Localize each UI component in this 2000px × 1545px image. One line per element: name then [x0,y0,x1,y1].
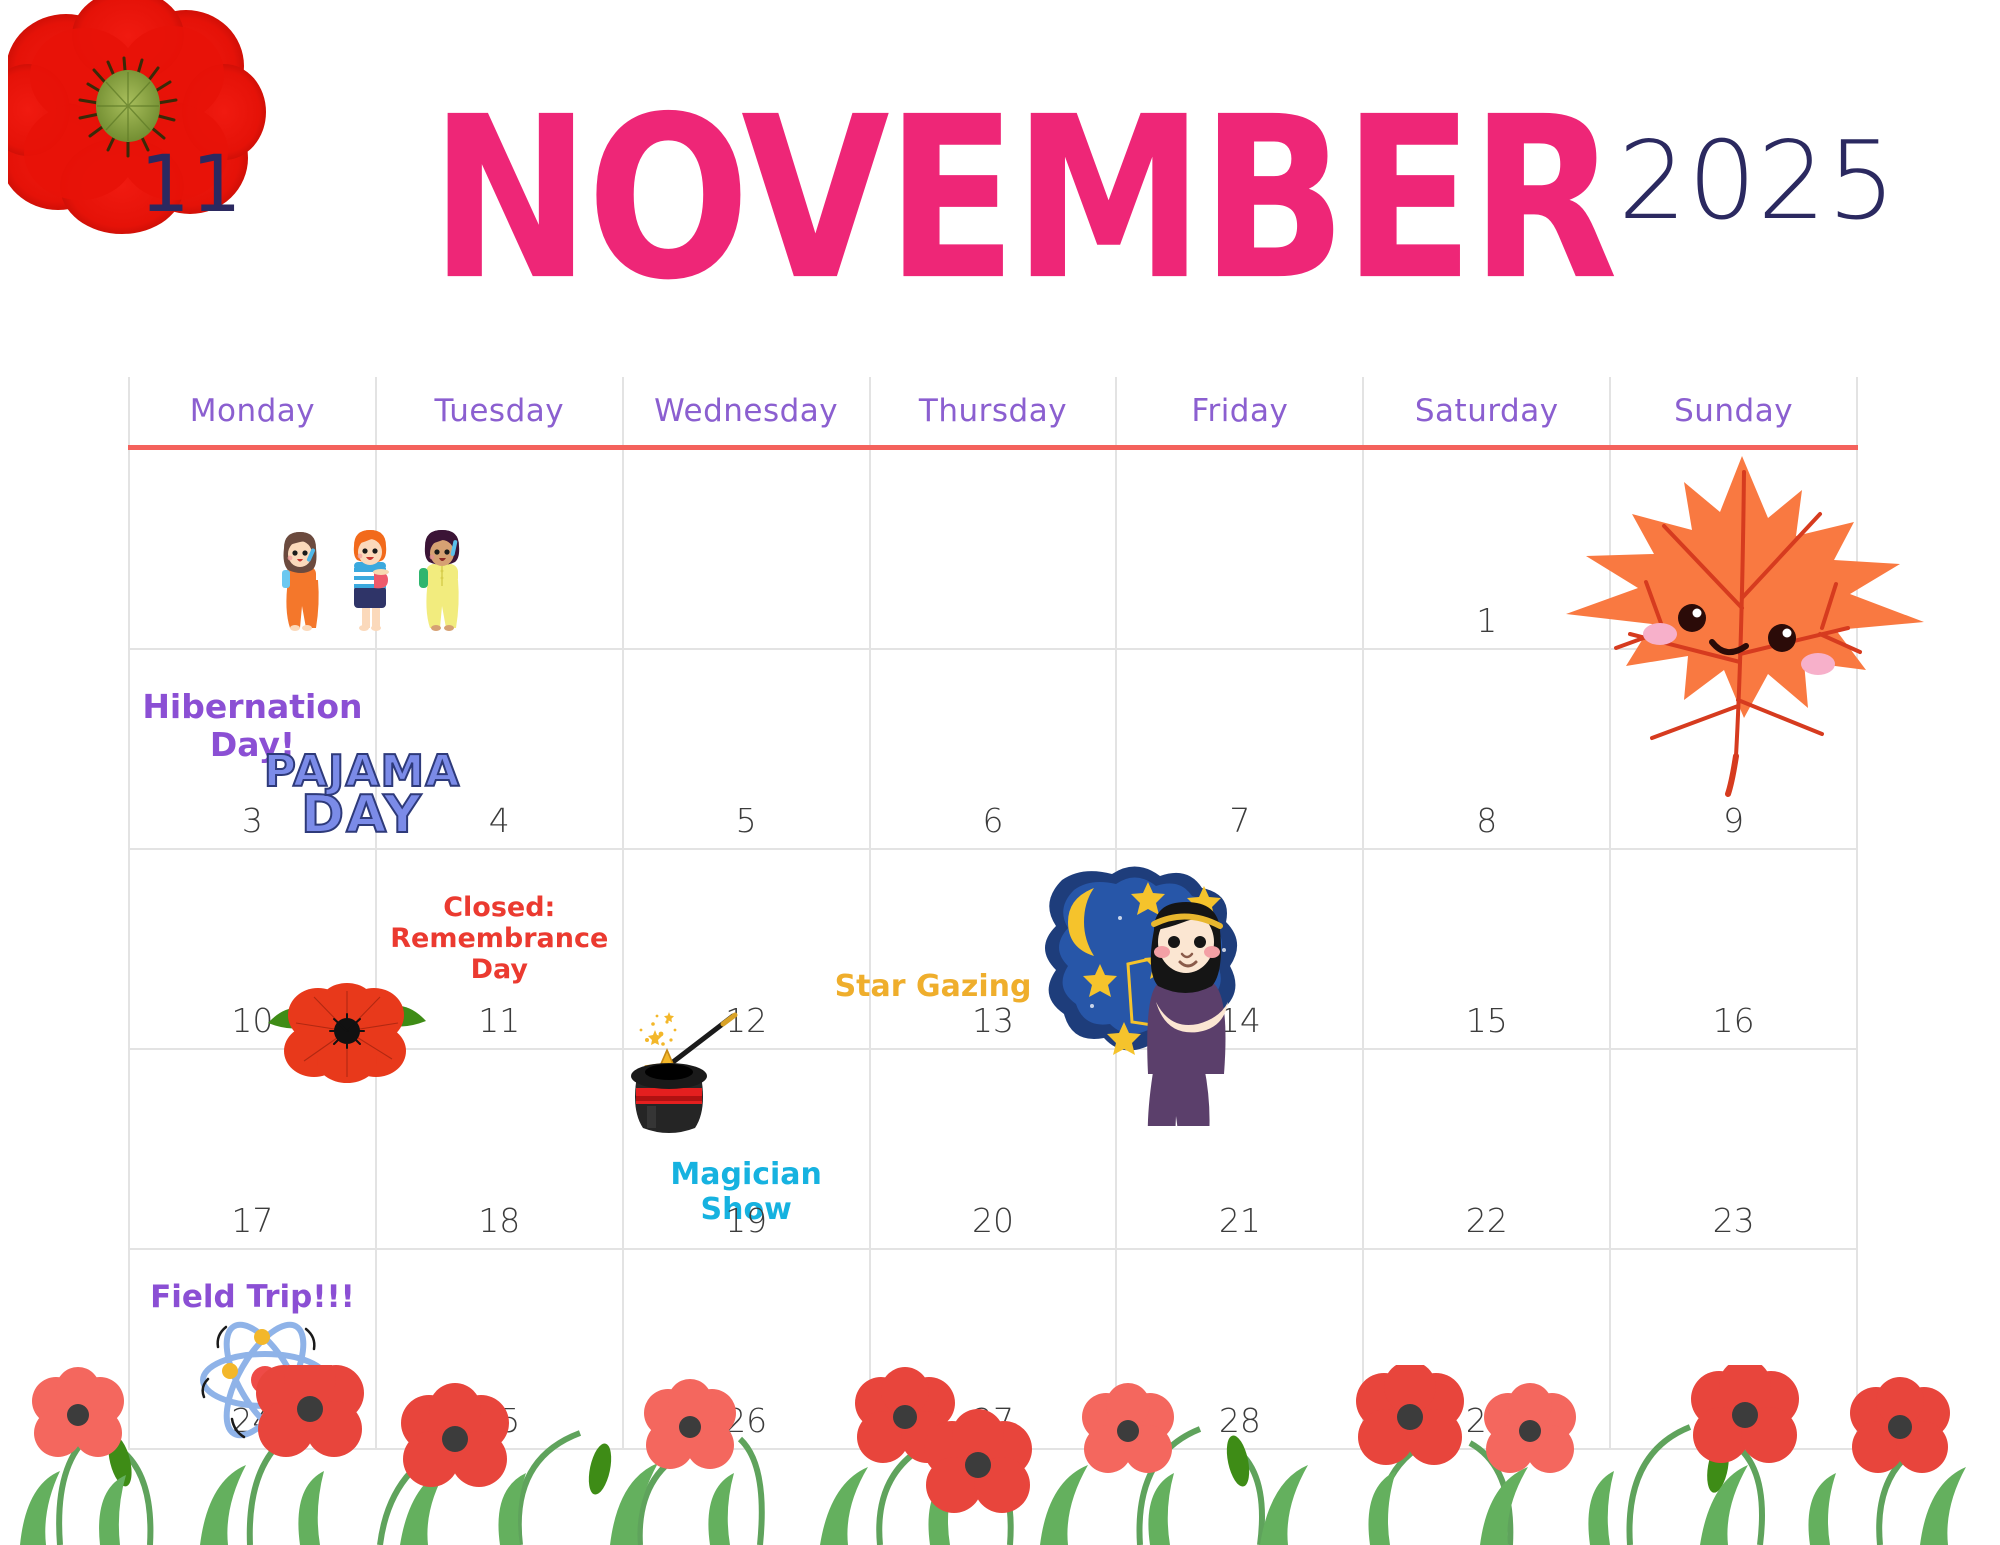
day-cell-10[interactable]: 10 [128,850,375,1050]
day-number: 12 [624,1001,869,1040]
day-number: 24 [130,1401,375,1440]
day-cell-28[interactable]: 28 [1115,1250,1362,1450]
day-cell-19[interactable]: Magician Show 19 [622,1050,869,1250]
event-star-gazing[interactable]: Star Gazing [811,970,1056,1005]
day-cell-8[interactable]: 8 [1362,650,1609,850]
day-cell-6[interactable]: 6 [869,650,1116,850]
weekday-header-tuesday: Tuesday [375,377,622,445]
day-cell-30[interactable]: 30 [1609,1250,1858,1450]
day-number: 29 [1364,1401,1609,1440]
day-cell[interactable] [1115,450,1362,650]
day-cell-16[interactable]: 16 [1609,850,1858,1050]
day-cell-1[interactable]: 1 [1362,450,1609,650]
calendar-header: 11 NOVEMBER 2025 [0,0,2000,360]
day-number: 9 [1611,801,1856,840]
event-hibernation-day[interactable]: Hibernation Day! [134,688,371,764]
day-number: 14 [1117,1001,1362,1040]
day-cell-15[interactable]: 15 [1362,850,1609,1050]
weekday-header-friday: Friday [1115,377,1362,445]
week-row: 1 2 [128,450,1858,650]
weekday-header-sunday: Sunday [1609,377,1858,445]
weekday-header-saturday: Saturday [1362,377,1609,445]
day-cell-18[interactable]: 18 [375,1050,622,1250]
day-cell-17[interactable]: 17 [128,1050,375,1250]
week-row: Field Trip!!! 24 25 26 27 28 29 30 [128,1250,1858,1450]
day-number: 15 [1364,1001,1609,1040]
day-cell-4[interactable]: 4 [375,650,622,850]
day-cell-3[interactable]: Hibernation Day! 3 [128,650,375,850]
day-number: 5 [624,801,869,840]
day-number: 8 [1364,801,1609,840]
day-cell-13[interactable]: Star Gazing 13 [869,850,1116,1050]
day-number: 21 [1117,1201,1362,1240]
day-cell-5[interactable]: 5 [622,650,869,850]
weekday-header-wednesday: Wednesday [622,377,869,445]
day-cell-11[interactable]: Closed: Remembrance Day 11 [375,850,622,1050]
day-number: 25 [377,1401,622,1440]
day-cell[interactable] [622,450,869,650]
day-cell-9[interactable]: 9 [1609,650,1858,850]
day-number: 26 [624,1401,869,1440]
day-cell-2[interactable]: 2 [1609,450,1858,650]
day-number: 22 [1364,1201,1609,1240]
event-field-trip[interactable]: Field Trip!!! [134,1280,371,1316]
day-number: 6 [871,801,1116,840]
day-number: 10 [130,1001,375,1040]
day-number: 18 [377,1201,622,1240]
day-number: 19 [624,1201,869,1240]
weekday-header-row: Monday Tuesday Wednesday Thursday Friday… [128,377,1858,445]
day-number: 13 [871,1001,1116,1040]
day-cell-21[interactable]: 21 [1115,1050,1362,1250]
calendar-weeks: 1 2 Hibernation Day! 3 4 5 6 7 8 9 10 [128,450,1858,1450]
day-cell[interactable] [128,450,375,650]
calendar-page: 11 NOVEMBER 2025 Monday Tuesday Wednesda… [0,0,2000,1545]
page-title: NOVEMBER [430,88,1476,312]
day-number: 30 [1611,1401,1856,1440]
day-cell-26[interactable]: 26 [622,1250,869,1450]
day-number: 28 [1117,1401,1362,1440]
day-number: 2 [1611,601,1856,640]
weekday-header-monday: Monday [128,377,375,445]
day-cell-27[interactable]: 27 [869,1250,1116,1450]
week-row: 10 Closed: Remembrance Day 11 12 Star Ga… [128,850,1858,1050]
day-number: 7 [1117,801,1362,840]
day-cell-29[interactable]: 29 [1362,1250,1609,1450]
day-cell-23[interactable]: 23 [1609,1050,1858,1250]
week-row: 17 18 Magician Show 19 20 21 22 23 [128,1050,1858,1250]
day-cell-7[interactable]: 7 [1115,650,1362,850]
day-cell[interactable] [375,450,622,650]
year-label: 2025 [1618,128,1897,236]
day-number: 23 [1611,1201,1856,1240]
day-number: 11 [377,1001,622,1040]
event-closed-remembrance-day[interactable]: Closed: Remembrance Day [381,892,618,985]
month-number-badge: 11 [140,140,243,230]
day-number: 17 [130,1201,375,1240]
day-number: 16 [1611,1001,1856,1040]
weekday-header-thursday: Thursday [869,377,1116,445]
day-number: 27 [871,1401,1116,1440]
day-cell-25[interactable]: 25 [375,1250,622,1450]
day-cell-20[interactable]: 20 [869,1050,1116,1250]
day-cell-24[interactable]: Field Trip!!! 24 [128,1250,375,1450]
day-number: 3 [130,801,375,840]
calendar-grid: Monday Tuesday Wednesday Thursday Friday… [128,377,1858,1445]
day-number: 20 [871,1201,1116,1240]
day-cell-22[interactable]: 22 [1362,1050,1609,1250]
day-cell-14[interactable]: 14 [1115,850,1362,1050]
day-number: 1 [1364,601,1609,640]
week-row: Hibernation Day! 3 4 5 6 7 8 9 [128,650,1858,850]
day-cell[interactable] [869,450,1116,650]
day-number: 4 [377,801,622,840]
day-cell-12[interactable]: 12 [622,850,869,1050]
